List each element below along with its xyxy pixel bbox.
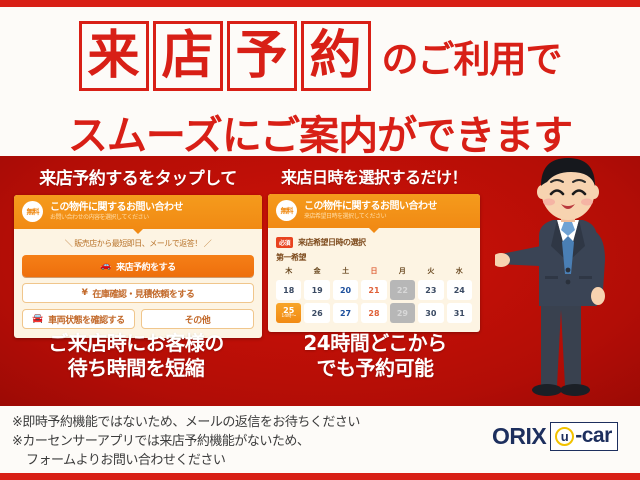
calendar-day-cell[interactable]: 2514時〜 [276, 303, 301, 323]
mock-stock-quote-label: 在庫確認・見積依頼をする [92, 287, 194, 300]
headline-line-1: 来 店 予 約 のご利用で [0, 21, 640, 91]
mock-inquiry-subtitle: お問い合わせの内容を選択してください [50, 214, 183, 222]
logo-u-circle: u [555, 427, 574, 446]
calendar-day-cell[interactable]: 30 [418, 303, 443, 323]
headline-kanji-box-4: 約 [301, 21, 371, 91]
mock-calendar-form: 無料 この物件に関するお問い合わせ 来店希望日時を選択してください 必須 来店希… [268, 194, 480, 332]
mock-other-label: その他 [185, 313, 211, 326]
headline-kanji-box-3: 予 [227, 21, 297, 91]
disclaimer-line-2: ※カーセンサーアプリでは来店予約機能がないため、 [12, 433, 482, 452]
bottom-rule [0, 473, 640, 480]
disclaimer-line-3: フォームよりお問い合わせください [12, 452, 482, 471]
calendar-day-time: 14時〜 [281, 315, 296, 320]
mock-inquiry-header: 無料 この物件に関するお問い合わせ お問い合わせの内容を選択してください [14, 195, 262, 229]
free-badge: 無料 [22, 201, 43, 222]
headline-tail-text: のご利用で [382, 29, 562, 83]
mock-vehicle-condition-button[interactable]: 🚘 車両状態を確認する [22, 309, 135, 329]
orix-ucar-logo: ORIX u -car [492, 422, 618, 451]
calendar-day-cell[interactable]: 19 [304, 280, 329, 300]
mock-calendar-title: この物件に関するお問い合わせ [304, 201, 437, 214]
benefit-right-line-2: でも予約可能 [266, 356, 484, 381]
mock-arrow-icon [368, 227, 380, 233]
calendar-day-cell: 22 [390, 280, 415, 300]
calendar-day-cell[interactable]: 18 [276, 280, 301, 300]
calendar-weekday: 木 [276, 266, 301, 277]
logo-orix-text: ORIX [492, 423, 546, 450]
calendar-day-cell[interactable]: 24 [447, 280, 472, 300]
calendar-weekday: 水 [447, 266, 472, 277]
headline-block: 来 店 予 約 のご利用で スムーズにご案内ができます [0, 7, 640, 156]
mock-inquiry-title: この物件に関するお問い合わせ [50, 202, 183, 215]
calendar-day-cell[interactable]: 21 [361, 280, 386, 300]
mock-lead-text: ＼ 販売店から最短即日、メールで返答！ ／ [22, 238, 254, 249]
mock-reserve-visit-label: 来店予約をする [116, 260, 176, 273]
yen-icon: ¥ [82, 289, 88, 298]
free-badge: 無料 [276, 200, 297, 221]
calendar-day-cell[interactable]: 31 [447, 303, 472, 323]
calendar-weekday: 火 [418, 266, 443, 277]
benefit-left-line-2: 待ち時間を短縮 [6, 356, 266, 381]
mock-other-button[interactable]: その他 [141, 309, 254, 329]
calendar-weekday: 日 [361, 266, 386, 277]
headline-kanji-box-2: 店 [153, 21, 223, 91]
calendar-day-cell[interactable]: 23 [418, 280, 443, 300]
panel-right-title: 来店日時を選択するだけ！ [268, 164, 480, 188]
benefit-right-line-1: 24時間どこから [266, 331, 484, 356]
disclaimer-line-1: ※即時予約機能ではないため、メールの返信をお待ちください [12, 414, 482, 433]
calendar-day-cell[interactable]: 26 [304, 303, 329, 323]
required-chip: 必須 [276, 237, 293, 248]
mock-inquiry-body: ＼ 販売店から最短即日、メールで返答！ ／ 🚗 来店予約をする ¥ 在庫確認・見… [14, 229, 262, 338]
car-icon: 🚗 [100, 262, 111, 271]
benefit-right: 24時間どこから でも予約可能 [266, 331, 484, 381]
logo-ucar-box: u -car [550, 422, 618, 451]
calendar-grid[interactable]: 木金土日月火水181920212223242514時〜262728293031 [276, 266, 472, 323]
mock-stock-quote-button[interactable]: ¥ 在庫確認・見積依頼をする [22, 283, 254, 303]
top-rule [0, 0, 640, 7]
mock-calendar-subtitle: 来店希望日時を選択してください [304, 213, 437, 221]
mock-inquiry-form: 無料 この物件に関するお問い合わせ お問い合わせの内容を選択してください ＼ 販… [14, 195, 262, 338]
mock-reserve-visit-button[interactable]: 🚗 来店予約をする [22, 255, 254, 277]
calendar-section-label: 来店希望日時の選択 [298, 237, 366, 248]
benefit-left-line-1: ご来店時にお客様の [6, 331, 266, 356]
calendar-day-cell[interactable]: 28 [361, 303, 386, 323]
headline-kanji-box-1: 来 [79, 21, 149, 91]
calendar-day-cell: 29 [390, 303, 415, 323]
calendar-day-cell[interactable]: 27 [333, 303, 358, 323]
panel-left-title: 来店予約するをタップして [14, 164, 262, 189]
calendar-weekday: 金 [304, 266, 329, 277]
panel-pick-datetime: 来店日時を選択するだけ！ 無料 この物件に関するお問い合わせ 来店希望日時を選択… [268, 164, 480, 332]
benefit-left: ご来店時にお客様の 待ち時間を短縮 [6, 331, 266, 381]
businessman-illustration [495, 150, 640, 406]
logo-car-text: -car [575, 424, 612, 448]
calendar-weekday: 月 [390, 266, 415, 277]
mock-calendar-body: 必須 来店希望日時の選択 第一希望 木金土日月火水181920212223242… [268, 228, 480, 332]
mock-button-row: 🚘 車両状態を確認する その他 [22, 309, 254, 329]
disclaimer-notes: ※即時予約機能ではないため、メールの返信をお待ちください ※カーセンサーアプリで… [12, 414, 482, 471]
car-side-icon: 🚘 [32, 315, 43, 324]
calendar-weekday: 土 [333, 266, 358, 277]
mock-calendar-header: 無料 この物件に関するお問い合わせ 来店希望日時を選択してください [268, 194, 480, 228]
calendar-day-cell[interactable]: 20 [333, 280, 358, 300]
calendar-preference-label: 第一希望 [276, 252, 472, 263]
promo-banner: 来 店 予 約 のご利用で スムーズにご案内ができます 来店予約するをタップして… [0, 0, 640, 480]
mock-vehicle-condition-label: 車両状態を確認する [48, 313, 125, 326]
calendar-required-row: 必須 来店希望日時の選択 [276, 237, 472, 248]
panel-tap-to-reserve: 来店予約するをタップして 無料 この物件に関するお問い合わせ お問い合わせの内容… [14, 164, 262, 338]
mock-arrow-icon [132, 228, 144, 234]
